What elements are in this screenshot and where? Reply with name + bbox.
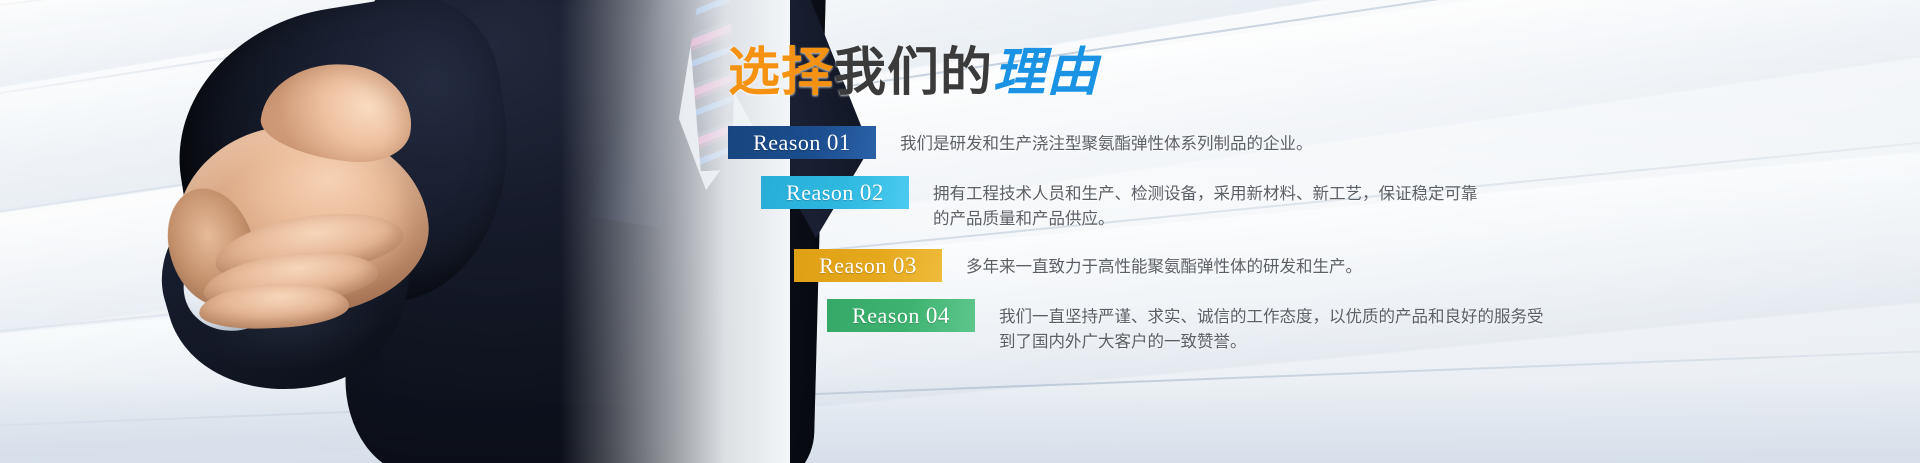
banner-content: 选择我们的理由 Reason 01 我们是研发和生产浇注型聚氨酯弹性体系列制品的… xyxy=(728,0,1920,463)
badge-label: Reason xyxy=(852,303,920,328)
page-title: 选择我们的理由 xyxy=(728,47,1099,99)
badge-number: 01 xyxy=(827,130,851,155)
reason-list: Reason 01 我们是研发和生产浇注型聚氨酯弹性体系列制品的企业。 Reas… xyxy=(728,126,1920,372)
badge-label: Reason xyxy=(786,180,854,205)
reason-text: 多年来一直致力于高性能聚氨酯弹性体的研发和生产。 xyxy=(966,249,1362,280)
reason-text: 我们是研发和生产浇注型聚氨酯弹性体系列制品的企业。 xyxy=(900,126,1313,157)
title-segment-orange: 选择 xyxy=(728,44,834,102)
badge-number: 03 xyxy=(893,253,917,278)
status-badge: Reason 03 xyxy=(794,249,942,282)
promo-banner: 选择我们的理由 Reason 01 我们是研发和生产浇注型聚氨酯弹性体系列制品的… xyxy=(0,0,1920,463)
badge-label: Reason xyxy=(753,130,821,155)
list-item: Reason 02 拥有工程技术人员和生产、检测设备，采用新材料、新工艺，保证稳… xyxy=(728,176,1920,232)
status-badge: Reason 01 xyxy=(728,126,876,159)
reason-text: 拥有工程技术人员和生产、检测设备，采用新材料、新工艺，保证稳定可靠的产品质量和产… xyxy=(933,176,1493,232)
list-item: Reason 03 多年来一直致力于高性能聚氨酯弹性体的研发和生产。 xyxy=(728,249,1920,282)
list-item: Reason 04 我们一直坚持严谨、求实、诚信的工作态度，以优质的产品和良好的… xyxy=(728,299,1920,355)
badge-number: 02 xyxy=(860,180,884,205)
reason-text: 我们一直坚持严谨、求实、诚信的工作态度，以优质的产品和良好的服务受到了国内外广大… xyxy=(999,299,1559,355)
badge-label: Reason xyxy=(819,253,887,278)
list-item: Reason 01 我们是研发和生产浇注型聚氨酯弹性体系列制品的企业。 xyxy=(728,126,1920,159)
badge-number: 04 xyxy=(926,303,950,328)
status-badge: Reason 04 xyxy=(827,299,975,332)
status-badge: Reason 02 xyxy=(761,176,909,209)
title-segment-dark: 我们的 xyxy=(834,44,993,102)
extended-hand xyxy=(139,52,491,350)
title-segment-blue: 理由 xyxy=(993,44,1099,102)
